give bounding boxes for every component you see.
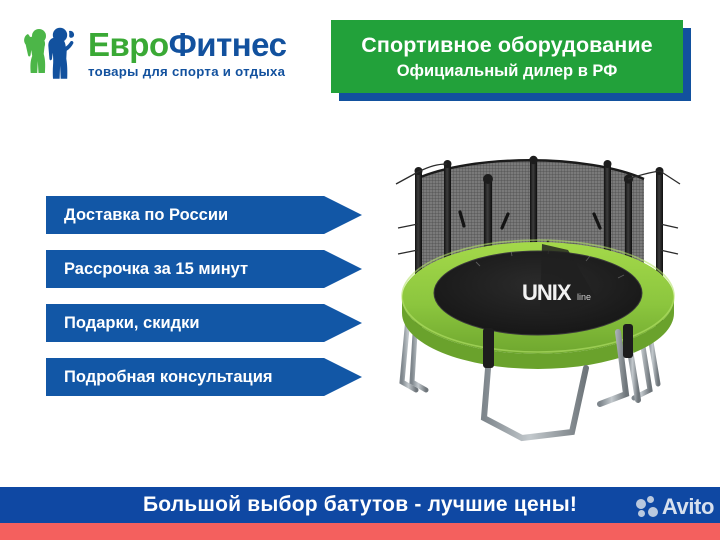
feature-label: Подарки, скидки [46, 314, 199, 333]
svg-text:UNIX: UNIX [522, 280, 572, 305]
feature-label: Доставка по России [46, 206, 228, 225]
brand-tagline: товары для спорта и отдыха [88, 64, 286, 79]
feature-item-gifts: Подарки, скидки [46, 304, 362, 342]
brand-word-green: Евро [88, 26, 169, 63]
feature-item-installment: Рассрочка за 15 минут [46, 250, 362, 288]
feature-item-delivery: Доставка по России [46, 196, 362, 234]
brand-word-blue: Фитнес [169, 26, 287, 63]
avito-wordmark: Avito [662, 494, 714, 520]
product-image-trampoline: UNIX line [372, 132, 702, 462]
header-banner: Спортивное оборудование Официальный диле… [331, 20, 683, 93]
bottom-banner-text: Большой выбор батутов - лучшие цены! [143, 493, 577, 517]
avito-dots-icon [636, 496, 660, 518]
avito-watermark: Avito [636, 493, 714, 521]
feature-label: Подробная консультация [46, 368, 272, 387]
brand-text: ЕвроФитнес товары для спорта и отдыха [88, 28, 286, 79]
feature-list: Доставка по России Рассрочка за 15 минут… [46, 196, 362, 412]
advertisement-card: ЕвроФитнес товары для спорта и отдыха Сп… [0, 0, 720, 540]
feature-item-consultation: Подробная консультация [46, 358, 362, 396]
bottom-color-strip [0, 523, 720, 540]
header-banner-line2: Официальный дилер в РФ [397, 62, 618, 81]
bottom-banner: Большой выбор батутов - лучшие цены! [0, 487, 720, 523]
brand-logo: ЕвроФитнес товары для спорта и отдыха [22, 18, 322, 88]
header-banner-line1: Спортивное оборудование [361, 33, 652, 58]
fitness-people-icon [22, 24, 84, 82]
svg-text:line: line [577, 292, 591, 302]
feature-label: Рассрочка за 15 минут [46, 260, 248, 279]
brand-wordmark: ЕвроФитнес [88, 28, 286, 61]
